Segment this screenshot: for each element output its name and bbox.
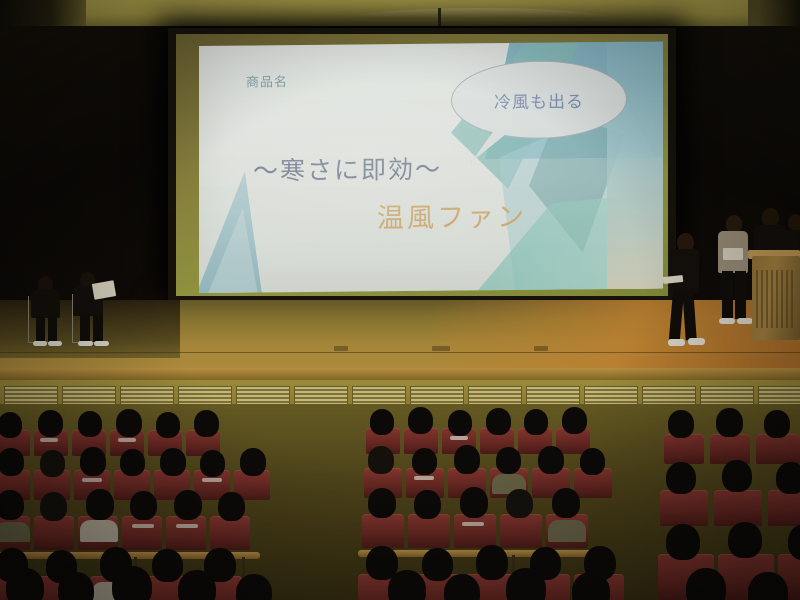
presenter-shoe	[688, 338, 705, 345]
person-leg	[80, 314, 90, 342]
stage-floor-seam	[0, 352, 800, 353]
audience-head	[412, 448, 437, 475]
stage-edge-lip	[0, 368, 800, 380]
audience-head	[552, 488, 580, 518]
audience-head	[764, 410, 790, 438]
handout-paper	[723, 248, 743, 260]
audience-head	[0, 412, 22, 438]
audience-head	[6, 568, 44, 600]
audience-head	[496, 447, 521, 474]
stage-floor-mark	[534, 346, 548, 351]
audience-head	[130, 491, 157, 520]
ceiling-shadow-right	[748, 0, 800, 26]
auditorium-presentation-photo: 商品名 〜寒さに即効〜 温風ファン 冷風も出る	[0, 0, 800, 600]
audience-head	[748, 572, 788, 600]
audience-head	[408, 407, 433, 434]
audience-head	[112, 566, 152, 600]
audience-head	[174, 490, 202, 520]
person-shoe	[737, 318, 753, 324]
audience-head	[388, 570, 426, 600]
person-torso	[31, 290, 60, 318]
audience-head	[414, 490, 441, 519]
audience-head	[78, 411, 102, 437]
person-leg	[93, 314, 103, 342]
audience-head	[116, 409, 142, 437]
audience-head	[666, 462, 696, 494]
audience-head	[236, 574, 272, 600]
slide-label-product-name: 商品名	[246, 71, 288, 90]
audience-head	[722, 460, 752, 492]
audience-head	[444, 574, 480, 600]
person-shoe	[78, 341, 93, 346]
stage-floor-mark	[432, 346, 450, 351]
audience-head	[538, 446, 564, 474]
audience-head	[506, 568, 546, 600]
audience-head	[40, 450, 65, 477]
presenter-shoe	[668, 339, 685, 346]
audience-head	[38, 410, 63, 437]
presenter-torso	[670, 249, 699, 293]
audience-head	[580, 448, 605, 475]
audience-head	[686, 568, 726, 600]
audience-head	[454, 445, 480, 474]
audience-head	[368, 488, 396, 518]
speech-bubble-text: 冷風も出る	[452, 87, 626, 114]
audience-head	[200, 450, 225, 477]
person-leg	[36, 316, 45, 342]
ceiling-shadow-left	[0, 0, 86, 26]
audience-head	[0, 490, 24, 520]
audience-head	[86, 489, 114, 520]
audience-head	[240, 448, 266, 476]
audience-head	[58, 572, 94, 600]
audience-seating-area	[0, 404, 800, 600]
person-head	[788, 214, 800, 231]
audience-head	[562, 407, 587, 434]
audience-head	[716, 408, 743, 437]
audience-head	[506, 489, 533, 518]
audience-head	[160, 448, 186, 476]
person-leg	[735, 271, 746, 319]
slide-title-line-1: 〜寒さに即効〜	[253, 150, 442, 188]
person-leg	[48, 316, 57, 342]
foreground-heads	[0, 554, 800, 600]
person-shoe	[33, 341, 47, 346]
projected-slide: 商品名 〜寒さに即効〜 温風ファン 冷風も出る	[199, 42, 663, 293]
audience-head	[0, 448, 24, 476]
person-shoe	[94, 341, 109, 346]
slide-title-line-2: 温風ファン	[377, 195, 527, 235]
audience-head	[448, 410, 472, 436]
audience-head	[460, 487, 488, 518]
person-shoe	[719, 318, 735, 324]
audience-head	[194, 410, 219, 437]
audience-head	[178, 570, 216, 600]
audience-head	[524, 409, 548, 435]
audience-head	[668, 410, 694, 438]
audience-head	[486, 408, 511, 435]
audience-head	[776, 462, 800, 494]
audience-head	[156, 412, 180, 438]
audience-head	[368, 446, 394, 474]
lectern-slats	[756, 270, 796, 328]
audience-head	[572, 572, 610, 600]
audience-head	[120, 449, 145, 476]
audience-head	[218, 492, 245, 521]
audience-head	[370, 409, 394, 435]
person-shoe	[48, 341, 62, 346]
person-leg	[722, 271, 733, 319]
audience-head	[728, 522, 762, 558]
audience-head	[40, 492, 67, 521]
stage-floor-mark	[334, 346, 348, 351]
audience-head	[80, 447, 106, 476]
